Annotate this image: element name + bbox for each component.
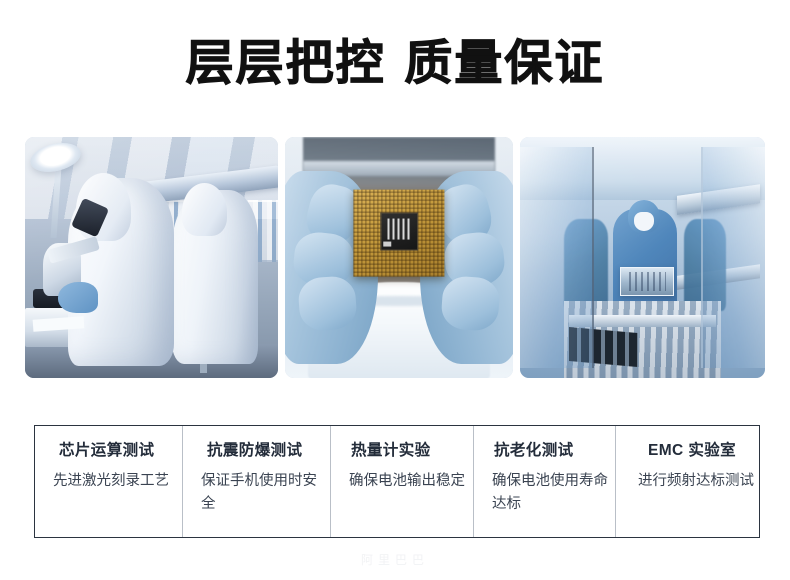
feature-title: 热量计实验 — [349, 442, 473, 460]
feature-description: 先进激光刻录工艺 — [53, 470, 177, 493]
cleanroom-inspection-photo — [25, 137, 278, 378]
page-title: 层层把控 质量保证 — [0, 34, 790, 92]
production-line-photo — [520, 137, 765, 378]
cpu-chip-in-hands-photo — [285, 137, 513, 378]
feature-cell-shock-explosion-test: 抗震防爆测试 保证手机使用时安全 — [183, 426, 331, 537]
feature-description: 确保电池使用寿命达标 — [492, 470, 615, 516]
feature-cell-emc-lab: EMC 实验室 进行频射达标测试 — [616, 426, 759, 537]
feature-title: 抗震防爆测试 — [201, 442, 330, 460]
feature-title: 抗老化测试 — [492, 442, 615, 460]
feature-description: 确保电池输出稳定 — [349, 470, 473, 493]
promo-banner: 层层把控 质量保证 — [0, 0, 790, 580]
feature-title: EMC 实验室 — [638, 442, 759, 460]
feature-title: 芯片运算测试 — [53, 442, 182, 460]
feature-cell-anti-aging-test: 抗老化测试 确保电池使用寿命达标 — [474, 426, 616, 537]
feature-cell-chip-compute-test: 芯片运算测试 先进激光刻录工艺 — [35, 426, 183, 537]
feature-table: 芯片运算测试 先进激光刻录工艺 抗震防爆测试 保证手机使用时安全 热量计实验 确… — [34, 425, 760, 538]
cpu-chip-icon — [353, 190, 444, 277]
photo-gallery — [25, 137, 765, 378]
watermark: 阿里巴巴 — [0, 551, 790, 568]
feature-description: 保证手机使用时安全 — [201, 470, 325, 516]
feature-cell-calorimeter-experiment: 热量计实验 确保电池输出稳定 — [331, 426, 474, 537]
feature-description: 进行频射达标测试 — [638, 470, 759, 493]
